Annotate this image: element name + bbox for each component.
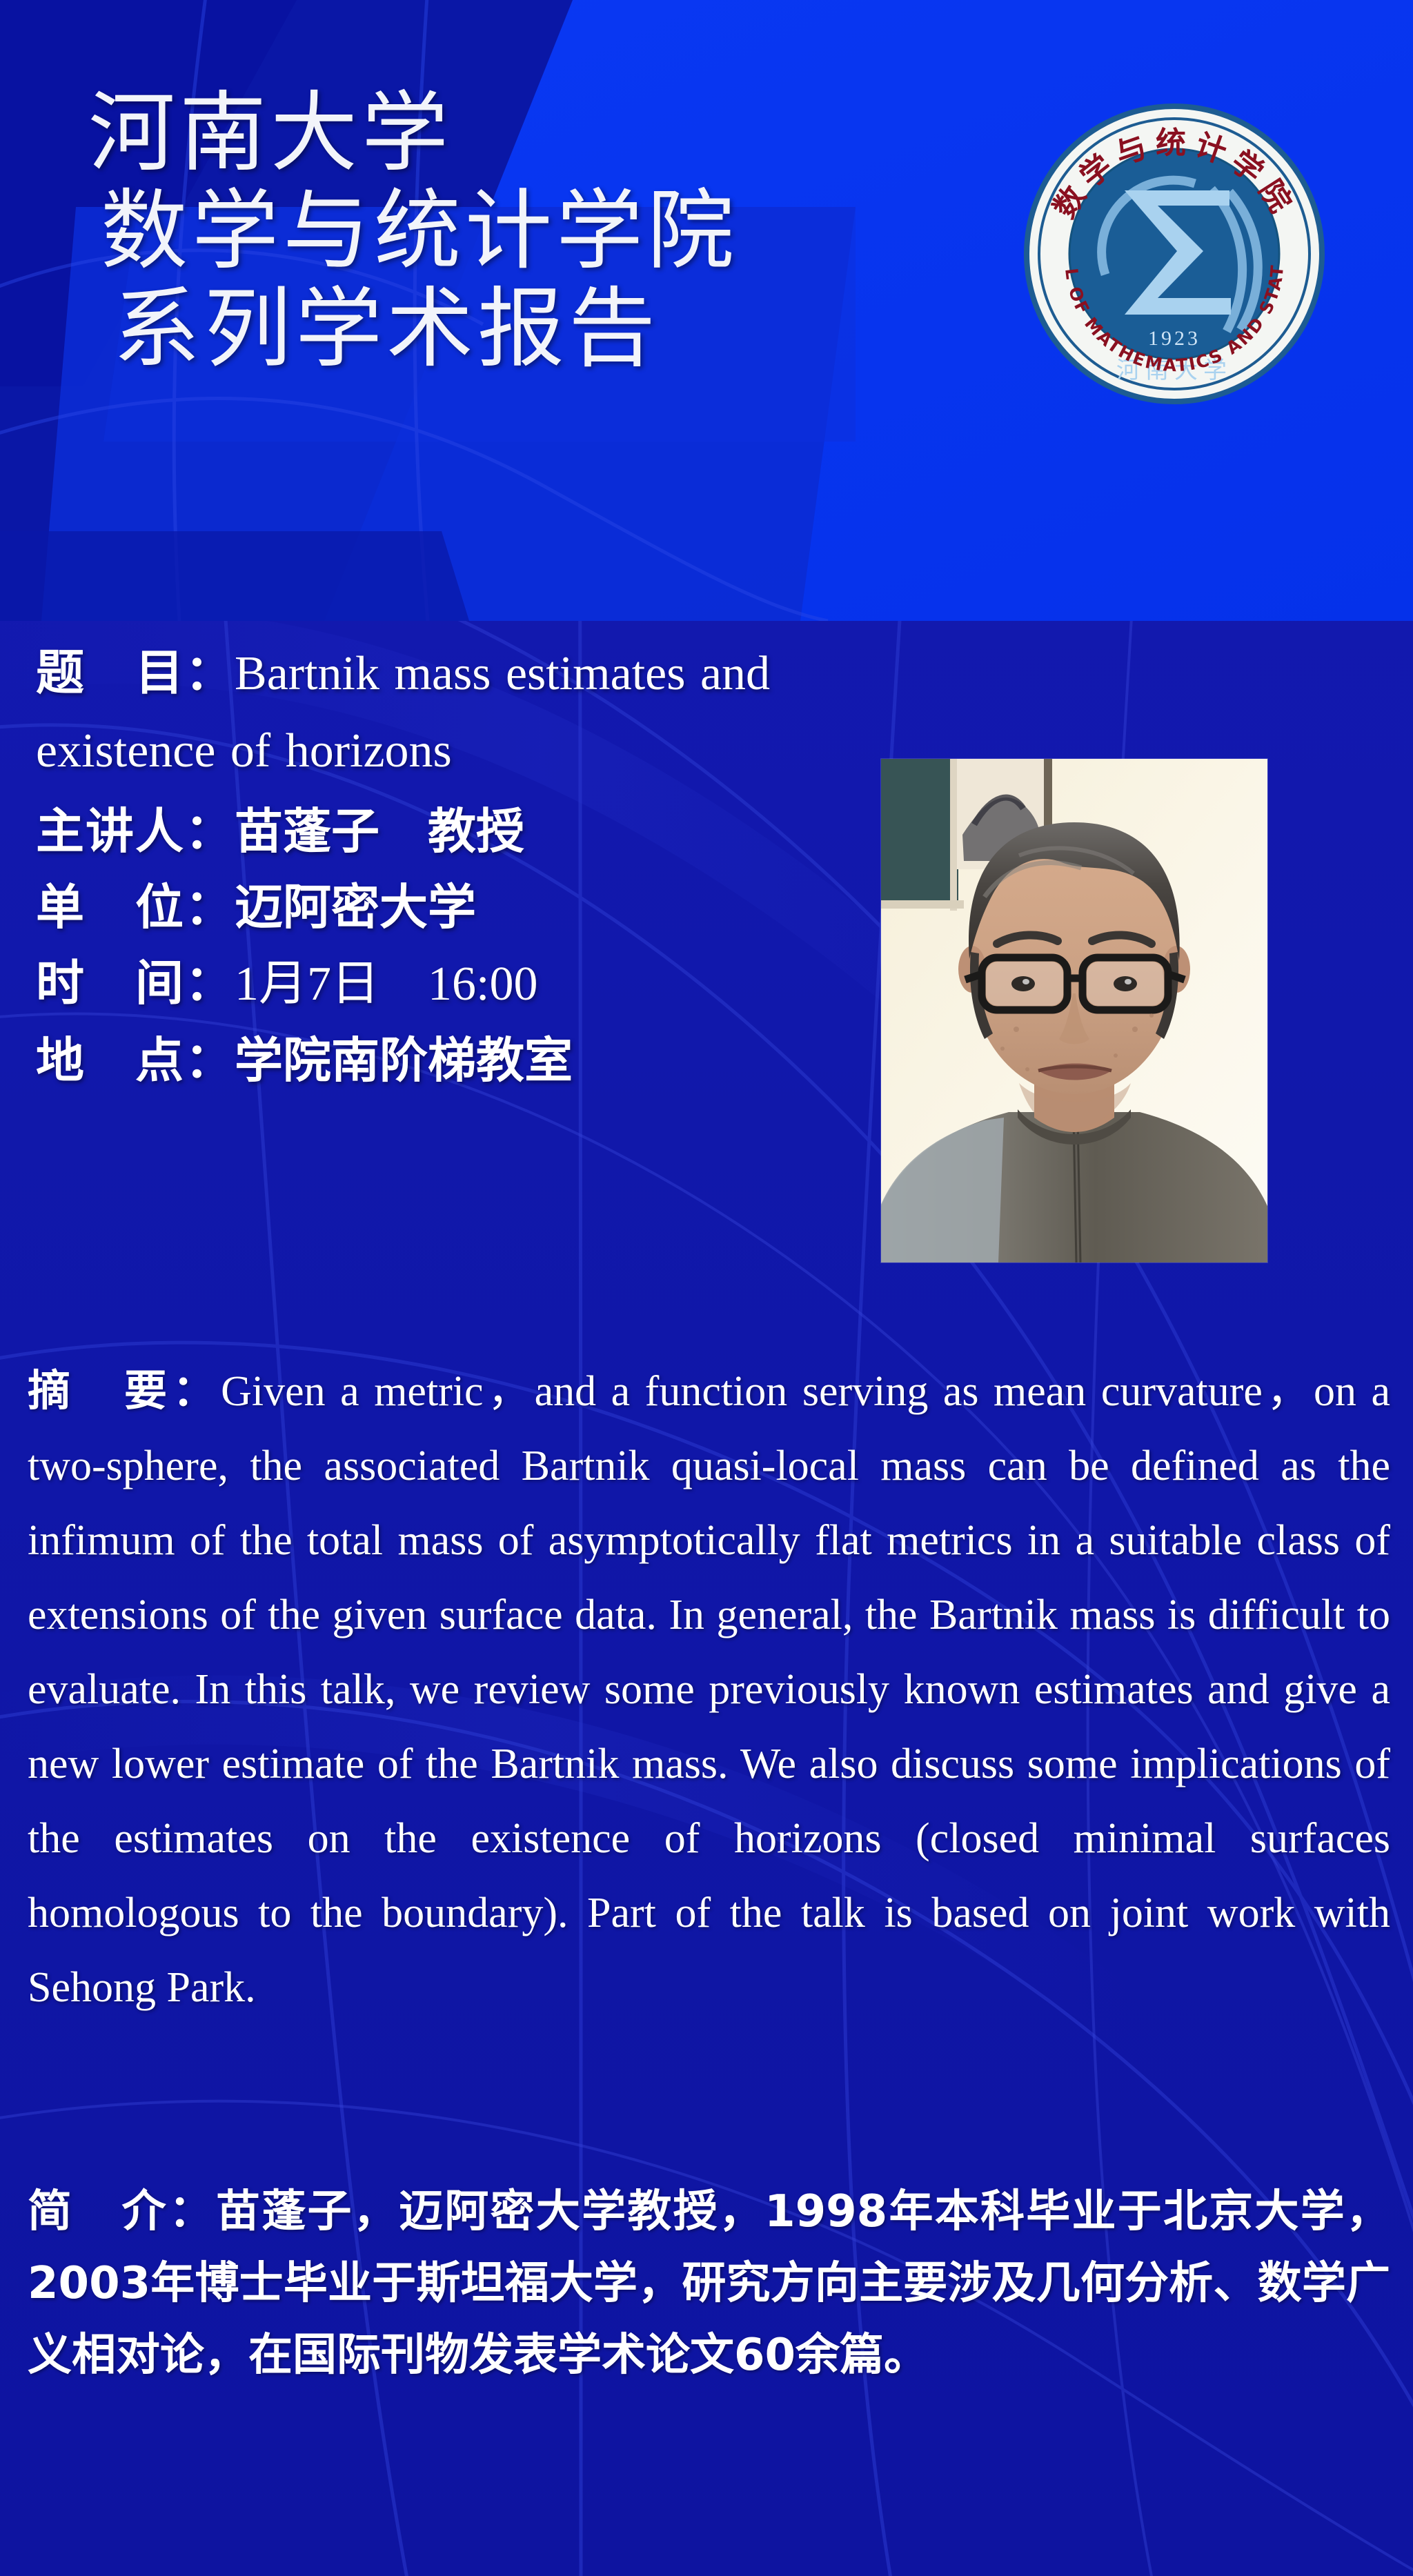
poster-header: 河南大学 数学与统计学院 系列学术报告 [0,0,1413,621]
affiliation-label: 单 位： [36,879,235,935]
abstract-label: 摘 要： [28,1365,221,1416]
bio-label: 简 介： [28,2186,216,2237]
topic-label: 题 目： [36,644,235,701]
time-value: 1月7日 16:00 [235,958,537,1011]
venue-value: 学院南阶梯教室 [235,1032,573,1089]
seminar-poster: 河南大学 数学与统计学院 系列学术报告 [0,0,1413,2576]
abstract-paragraph: 摘 要：Given a metric，and a function servin… [28,1354,1390,2025]
header-title-block: 河南大学 数学与统计学院 系列学术报告 [88,84,738,378]
speaker-value: 苗蓬子 教授 [235,803,524,860]
info-row-topic: 题 目：Bartnik mass estimates and existence… [36,635,912,789]
speaker-photo-illustration [881,759,1267,1262]
speaker-label: 主讲人： [36,803,235,860]
venue-label: 地 点： [36,1032,235,1089]
affiliation-value: 迈阿密大学 [235,879,476,935]
logo-year: 1923 [1148,327,1200,350]
bio-text: 苗蓬子，迈阿密大学教授，1998年本科毕业于北京大学，2003年博士毕业于斯坦福… [28,2186,1390,2381]
speaker-photo [881,759,1267,1262]
header-title-line-2: 数学与统计学院 [101,182,738,280]
abstract-text: Given a metric，and a function serving as… [28,1368,1390,2011]
abstract-block: 摘 要：Given a metric，and a function servin… [28,1311,1390,2068]
header-title-line-1: 河南大学 [88,84,738,182]
bio-block: 简 介：苗蓬子，迈阿密大学教授，1998年本科毕业于北京大学，2003年博士毕业… [28,2132,1390,2435]
header-title-line-3: 系列学术报告 [113,280,738,378]
school-logo-svg: 1923 河南大学 数学与统计学院 SCHOOL OF MATHEMATICS … [1022,102,1326,406]
time-label: 时 间： [36,955,235,1011]
school-logo: 1923 河南大学 数学与统计学院 SCHOOL OF MATHEMATICS … [1022,102,1326,406]
bio-paragraph: 简 介：苗蓬子，迈阿密大学教授，1998年本科毕业于北京大学，2003年博士毕业… [28,2176,1390,2391]
